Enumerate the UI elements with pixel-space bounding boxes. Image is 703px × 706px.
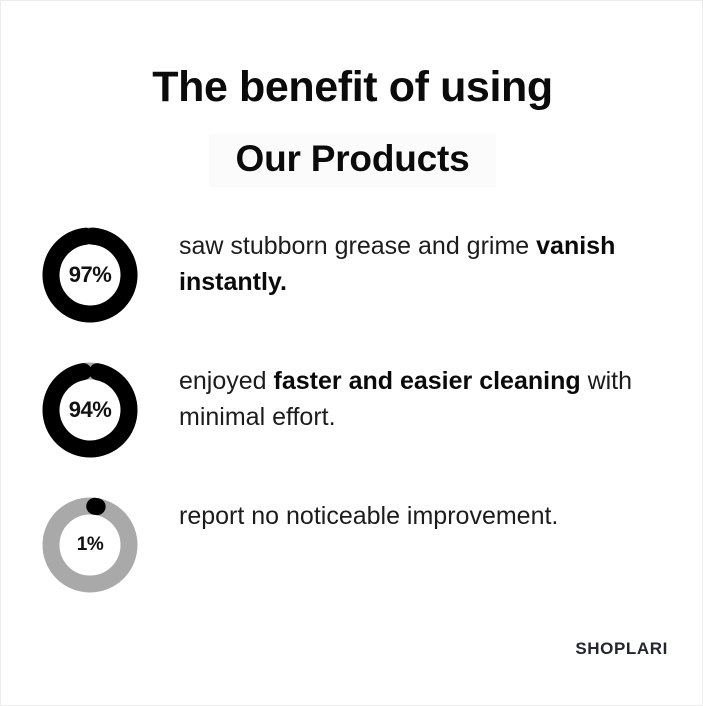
stat-text-bold: faster and easier cleaning (274, 367, 581, 395)
brand-wordmark: SHOPLARI (575, 639, 668, 659)
donut-chart-94: 94% (42, 362, 138, 458)
donut-percent-label: 94% (42, 362, 138, 458)
stat-description: report no noticeable improvement. (179, 489, 703, 535)
stat-text-prefix: enjoyed (179, 367, 274, 395)
page-title-line1: The benefit of using (1, 63, 703, 112)
stat-description: enjoyed faster and easier cleaning with … (179, 354, 703, 435)
donut-percent-label: 97% (42, 227, 138, 323)
donut-cell: 1% (1, 489, 179, 593)
stat-text-prefix: report no noticeable improvement. (179, 502, 558, 530)
donut-chart-1: 1% (42, 497, 138, 593)
donut-cell: 97% (1, 219, 179, 323)
stats-list: 97% saw stubborn grease and grime vanish… (1, 219, 703, 624)
stat-row: 94% enjoyed faster and easier cleaning w… (1, 354, 703, 489)
donut-chart-97: 97% (42, 227, 138, 323)
donut-cell: 94% (1, 354, 179, 458)
donut-percent-label: 1% (42, 497, 138, 593)
stat-description: saw stubborn grease and grime vanish ins… (179, 219, 703, 300)
page-title-line2: Our Products (209, 134, 495, 187)
stat-text-prefix: saw stubborn grease and grime (179, 232, 536, 260)
heading-block: The benefit of using Our Products (1, 63, 703, 187)
stat-row: 97% saw stubborn grease and grime vanish… (1, 219, 703, 354)
page-title-line2-wrap: Our Products (1, 134, 703, 187)
infographic-canvas: The benefit of using Our Products 97% sa… (0, 0, 703, 706)
stat-row: 1% report no noticeable improvement. (1, 489, 703, 624)
